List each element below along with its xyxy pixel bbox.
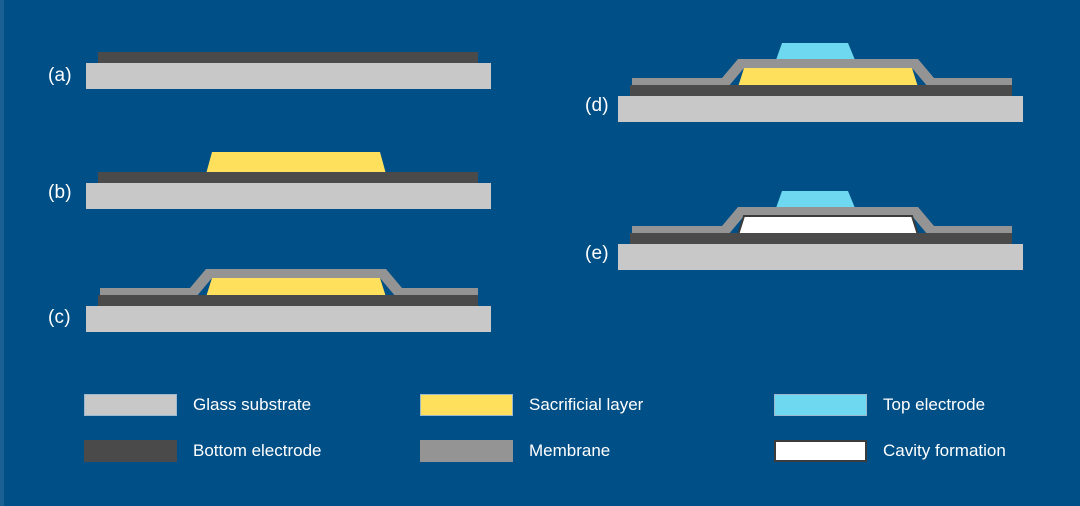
panel-e-graphic — [618, 191, 1023, 270]
legend-label-cavity-formation: Cavity formation — [883, 441, 1006, 461]
panel-a-bottom-electrode — [98, 52, 478, 63]
legend-swatch-membrane — [420, 440, 513, 462]
panel-d-bottom-electrode — [630, 85, 1012, 96]
panel-b-bottom-electrode — [98, 172, 478, 183]
panel-a-glass-substrate — [86, 63, 491, 89]
panel-b-glass-substrate — [86, 183, 491, 209]
legend-swatch-glass-substrate — [84, 394, 177, 416]
legend-label-glass-substrate: Glass substrate — [193, 395, 311, 415]
legend-swatch-sacrificial-layer — [420, 394, 513, 416]
legend-item-sacrificial-layer: Sacrificial layer — [420, 393, 643, 417]
legend-item-top-electrode: Top electrode — [774, 393, 985, 417]
legend-label-bottom-electrode: Bottom electrode — [193, 441, 322, 461]
panel-e-cavity — [738, 216, 918, 235]
legend-swatch-bottom-electrode — [84, 440, 177, 462]
legend-item-bottom-electrode: Bottom electrode — [84, 439, 322, 463]
panel-c-glass-substrate — [86, 306, 491, 332]
panel-e-bottom-electrode — [630, 233, 1012, 244]
panel-b-sacrificial-layer — [206, 152, 386, 174]
panel-c-graphic — [86, 269, 491, 332]
figure-canvas: (a) (b) (c) (d) (e) Glass substrate Bott… — [0, 0, 1080, 506]
legend-label-top-electrode: Top electrode — [883, 395, 985, 415]
legend-label-membrane: Membrane — [529, 441, 610, 461]
panel-label-e: (e) — [585, 243, 609, 265]
panel-label-b: (b) — [48, 182, 72, 204]
panel-e-top-electrode — [776, 191, 855, 208]
legend-column-2: Sacrificial layer Membrane — [420, 393, 750, 478]
panel-b-graphic — [86, 152, 491, 209]
panel-label-c: (c) — [48, 307, 71, 329]
legend-item-glass-substrate: Glass substrate — [84, 393, 311, 417]
panel-c-bottom-electrode — [98, 295, 478, 306]
legend-item-cavity-formation: Cavity formation — [774, 439, 1006, 463]
panel-label-a: (a) — [48, 65, 72, 87]
panel-d-sacrificial-layer — [738, 68, 918, 87]
legend-label-sacrificial-layer: Sacrificial layer — [529, 395, 643, 415]
panel-c-sacrificial-layer — [206, 278, 386, 297]
legend-column-3: Top electrode Cavity formation — [774, 393, 1080, 478]
panel-d-top-electrode — [776, 43, 855, 60]
legend: Glass substrate Bottom electrode Sacrifi… — [84, 393, 1044, 478]
legend-column-1: Glass substrate Bottom electrode — [84, 393, 414, 478]
panel-label-d: (d) — [585, 95, 609, 117]
legend-swatch-cavity-formation — [774, 440, 867, 462]
legend-item-membrane: Membrane — [420, 439, 610, 463]
panel-e-glass-substrate — [618, 244, 1023, 270]
panel-d-glass-substrate — [618, 96, 1023, 122]
panel-d-graphic — [618, 43, 1023, 122]
legend-swatch-top-electrode — [774, 394, 867, 416]
panel-a-graphic — [86, 52, 491, 89]
